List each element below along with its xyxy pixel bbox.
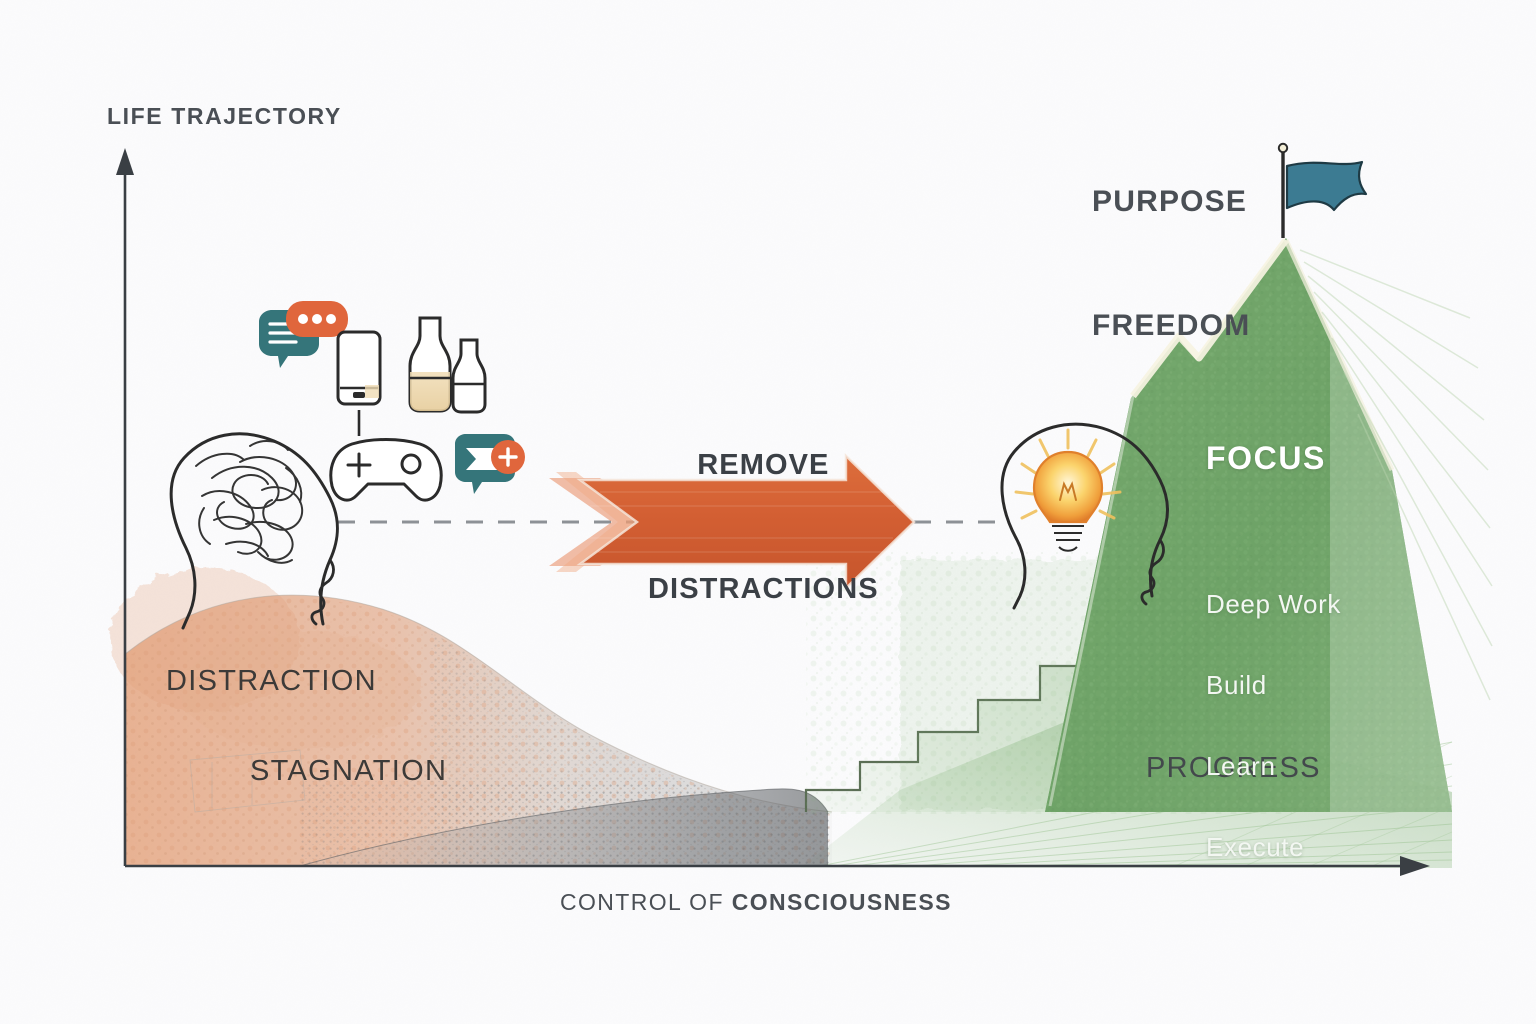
label-stagnation: STAGNATION	[250, 755, 447, 788]
x-axis-label: CONTROL OF CONSCIOUSNESS	[560, 889, 952, 916]
message-dots-icon	[286, 301, 348, 337]
focus-block: FOCUS Deep Work Build Learn Execute	[1206, 404, 1341, 935]
focus-title: FOCUS	[1206, 440, 1341, 477]
focus-item-deep-work: Deep Work	[1206, 589, 1341, 620]
x-axis-label-regular: CONTROL OF	[560, 889, 732, 915]
x-axis-label-bold: CONSCIOUSNESS	[732, 889, 952, 915]
arrow-caption-line2: DISTRACTIONS	[648, 569, 879, 610]
arrow-caption: REMOVE DISTRACTIONS	[648, 363, 879, 692]
arrow-caption-line1: REMOVE	[648, 445, 879, 486]
summit-label: PURPOSE FREEDOM	[1092, 98, 1250, 429]
diagram-canvas: LIFE TRAJECTORY CONTROL OF CONSCIOUSNESS…	[0, 0, 1536, 1024]
label-distraction: DISTRACTION	[166, 665, 377, 698]
focus-item-build: Build	[1206, 670, 1341, 701]
focus-item-learn: Learn	[1206, 751, 1341, 782]
focus-list: Deep Work Build Learn Execute	[1206, 539, 1341, 899]
focus-item-execute: Execute	[1206, 832, 1341, 863]
summit-line-freedom: FREEDOM	[1092, 305, 1250, 346]
y-axis-label: LIFE TRAJECTORY	[107, 103, 342, 130]
summit-line-purpose: PURPOSE	[1092, 181, 1250, 222]
